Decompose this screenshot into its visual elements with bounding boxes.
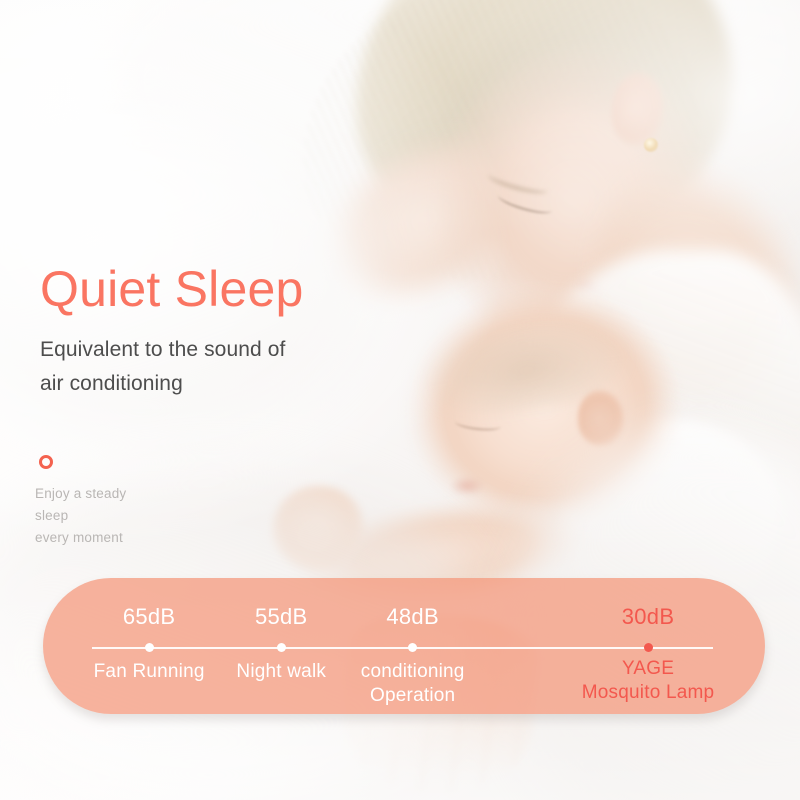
note-line-3: every moment — [35, 530, 123, 545]
copy-block: Quiet Sleep Equivalent to the sound of a… — [40, 262, 303, 401]
page-title: Quiet Sleep — [40, 262, 303, 317]
baby-ear — [578, 390, 624, 446]
db-value: 30dB — [563, 604, 733, 630]
db-item: 30dBYAGE Mosquito Lamp — [563, 578, 733, 714]
db-dot-marker — [145, 643, 154, 652]
earring — [644, 138, 658, 152]
db-value: 48dB — [328, 604, 498, 630]
db-comparison-bar: 65dBFan Running55dBNight walk48dBconditi… — [43, 578, 765, 714]
note-line-1: Enjoy a steady — [35, 486, 126, 501]
db-item-list: 65dBFan Running55dBNight walk48dBconditi… — [43, 578, 765, 714]
poster: Quiet Sleep Equivalent to the sound of a… — [0, 0, 800, 800]
db-dot-marker — [408, 643, 417, 652]
db-label: YAGE Mosquito Lamp — [563, 657, 733, 704]
db-label: conditioning Operation — [328, 660, 498, 707]
db-dot-marker — [277, 643, 286, 652]
note-text: Enjoy a steady sleep every moment — [35, 483, 126, 549]
db-item: 48dBconditioning Operation — [328, 578, 498, 714]
note-line-2: sleep — [35, 508, 68, 523]
db-dot-marker — [644, 643, 653, 652]
subtitle-line-1: Equivalent to the sound of — [40, 338, 285, 361]
subtitle-line-2: air conditioning — [40, 372, 183, 395]
ring-bullet-icon — [39, 455, 53, 469]
subtitle: Equivalent to the sound of air condition… — [40, 317, 303, 401]
